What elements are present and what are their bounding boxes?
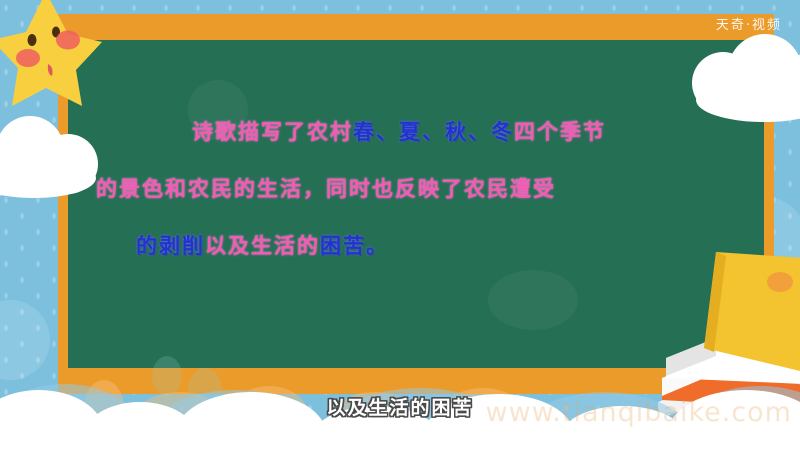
chalk-line-1: 诗歌描写了农村春、夏、秋、冬四个季节 (96, 104, 696, 161)
star-icon (0, 0, 104, 108)
chalk-segment: 四个季节 (514, 120, 606, 144)
chalk-segment: 的剥削 (136, 234, 205, 258)
video-frame: 诗歌描写了农村春、夏、秋、冬四个季节 的景色和农民的生活，同时也反映了农民遭受 … (0, 0, 800, 450)
chalkboard-text: 诗歌描写了农村春、夏、秋、冬四个季节 的景色和农民的生活，同时也反映了农民遭受 … (96, 104, 696, 275)
chalk-segment: 的景色和农民的生活，同时也反映了农民遭受 (96, 177, 556, 201)
board-speck (488, 270, 578, 330)
cloud-decoration-top-left (0, 112, 106, 198)
chalk-line-3: 的剥削以及生活的困苦。 (96, 218, 696, 275)
brand-watermark: 天奇·视频 (716, 14, 782, 33)
chalk-segment: 诗歌描写了农村 (192, 120, 353, 144)
chalk-segment-seasons: 春、夏、秋、冬 (353, 120, 514, 144)
chalk-segment: 困苦。 (320, 234, 389, 258)
cloud-decoration-top-right (692, 34, 800, 126)
chalk-segment: 的 (297, 234, 320, 258)
chalk-segment: 以及生活 (205, 234, 297, 258)
subtitle-caption: 以及生活的困苦 (0, 393, 800, 420)
star-mascot (0, 0, 104, 108)
chalk-line-2: 的景色和农民的生活，同时也反映了农民遭受 (96, 161, 696, 218)
